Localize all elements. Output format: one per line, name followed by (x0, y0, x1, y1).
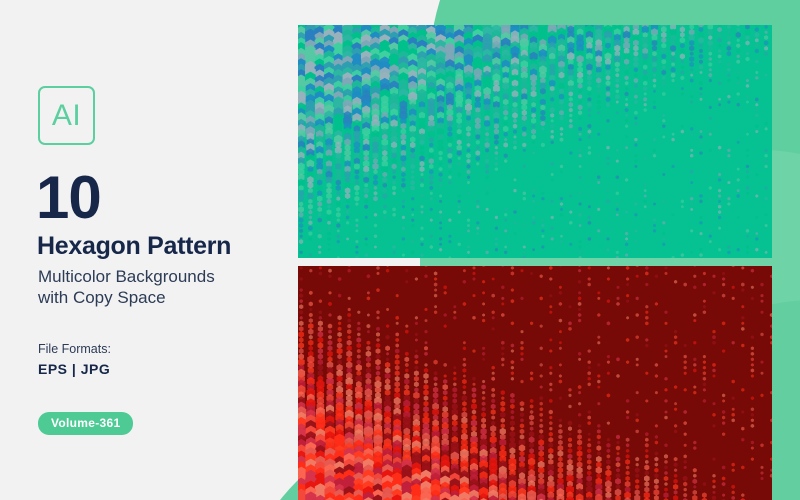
adobe-illustrator-badge: AI (38, 86, 95, 145)
red-hexagon-preview[interactable] (298, 266, 772, 500)
green-hexagon-pattern (298, 25, 772, 258)
volume-badge: Volume-361 (38, 412, 133, 435)
subtitle-line-2: with Copy Space (38, 287, 288, 308)
product-card: AI 10 Hexagon Pattern Multicolor Backgro… (0, 0, 800, 500)
green-hexagon-preview[interactable] (298, 25, 772, 258)
file-formats-label: File Formats: (38, 342, 111, 356)
page-title: Hexagon Pattern (37, 234, 231, 259)
red-hexagon-pattern (298, 266, 772, 500)
subtitle: Multicolor Backgrounds with Copy Space (38, 266, 288, 309)
subtitle-line-1: Multicolor Backgrounds (38, 266, 288, 287)
decorative-right-band (770, 0, 800, 500)
file-formats-value: EPS | JPG (38, 361, 110, 377)
adobe-illustrator-badge-label: AI (52, 101, 81, 131)
info-column: AI 10 Hexagon Pattern Multicolor Backgro… (0, 0, 300, 500)
item-count: 10 (36, 168, 101, 228)
